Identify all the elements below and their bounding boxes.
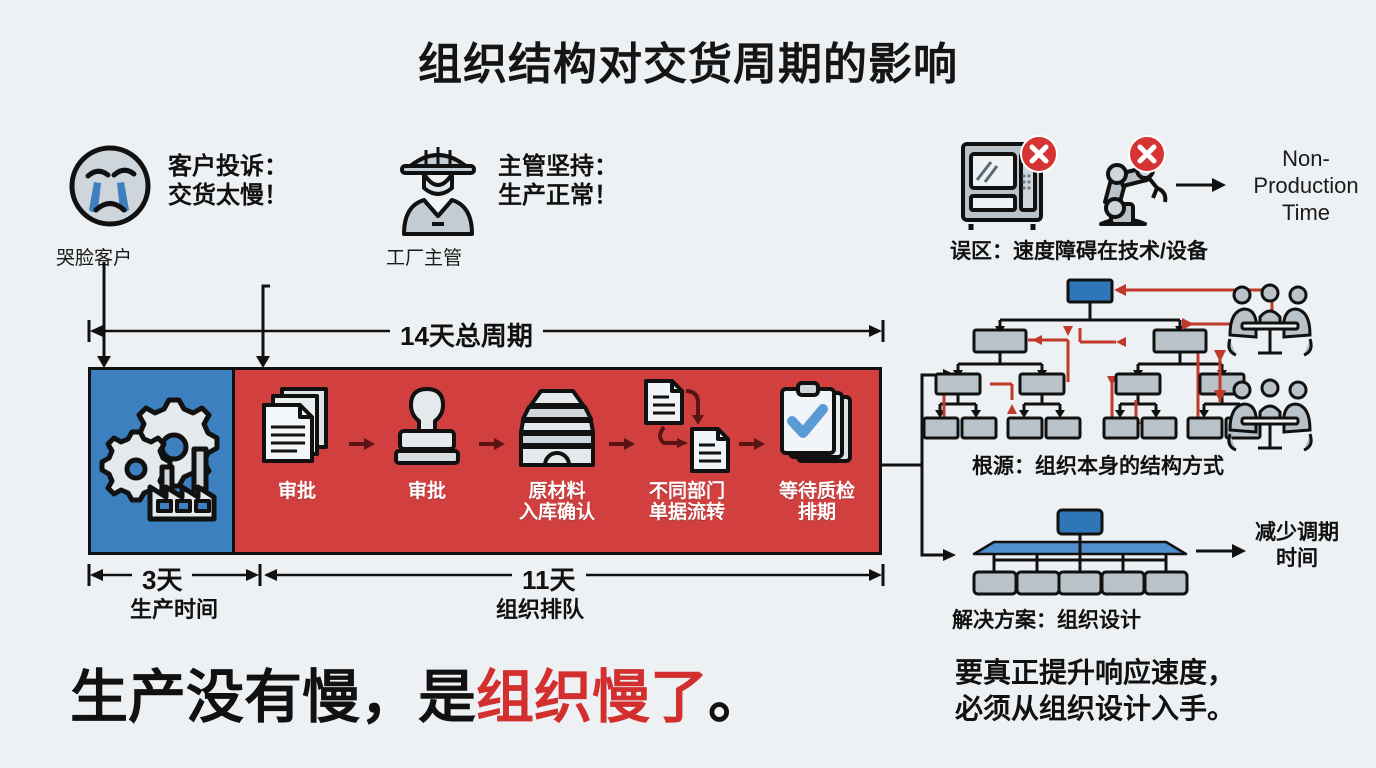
queue-step: 等待质检 排期 bbox=[765, 381, 869, 541]
rubber-stamp-icon bbox=[390, 381, 464, 477]
meeting-table-icon bbox=[1222, 378, 1318, 452]
step-arrow-icon bbox=[739, 436, 765, 452]
persona-connector-arrows bbox=[80, 262, 400, 372]
step-arrow-icon bbox=[479, 436, 505, 452]
queue-step: 审批 bbox=[375, 381, 479, 541]
persona-quote-customer: 客户投诉： 交货太慢！ bbox=[168, 152, 288, 211]
queue-step-label: 审批 bbox=[278, 481, 316, 502]
queue-step: 审批 bbox=[245, 381, 349, 541]
headline-right: 要真正提升响应速度， 必须从组织设计入手。 bbox=[955, 655, 1375, 727]
flat-org-chart bbox=[960, 508, 1200, 598]
infographic-canvas: 组织结构对交货周期的影响 客户投诉： 交货太慢！ 哭脸客户 主管坚持： 生产正常… bbox=[0, 0, 1376, 768]
documents-stack-icon bbox=[260, 381, 334, 477]
step-arrow-icon bbox=[609, 436, 635, 452]
meeting-table-icon bbox=[1222, 283, 1318, 357]
misconception-caption: 误区：速度障碍在技术/设备 bbox=[950, 235, 1208, 265]
queue-step-label: 原材料 入库确认 bbox=[519, 481, 595, 524]
queue-step: 不同部门 单据流转 bbox=[635, 381, 739, 541]
gears-factory-icon bbox=[92, 391, 232, 531]
production-sublabel: 生产时间 bbox=[88, 592, 260, 624]
document-routing-icon bbox=[642, 381, 732, 477]
red-x-badge bbox=[1126, 133, 1168, 175]
queue-step-label: 审批 bbox=[408, 481, 446, 502]
red-x-badge bbox=[1018, 133, 1060, 175]
inventory-stack-icon bbox=[515, 381, 599, 477]
timeline-segment-queue: 审批 审批 bbox=[235, 370, 879, 552]
reduce-cycle-time-label: 减少调期 时间 bbox=[1222, 520, 1372, 571]
total-cycle-label: 14天总周期 bbox=[390, 316, 543, 353]
root-cause-caption: 根源：组织本身的结构方式 bbox=[972, 450, 1224, 480]
factory-supervisor-icon bbox=[390, 138, 486, 238]
queue-step-label: 等待质检 排期 bbox=[779, 481, 855, 524]
headline-left: 生产没有慢，是组织慢了。 bbox=[70, 650, 900, 734]
persona-quote-supervisor: 主管坚持： 生产正常！ bbox=[498, 152, 618, 211]
timeline-bar: 审批 审批 bbox=[88, 367, 882, 555]
crying-face-icon bbox=[62, 140, 158, 236]
page-title: 组织结构对交货周期的影响 bbox=[0, 28, 1376, 92]
solution-caption: 解决方案：组织设计 bbox=[952, 604, 1141, 634]
misconception-arrow-icon bbox=[1176, 176, 1228, 194]
segment-measure-lines bbox=[88, 562, 884, 588]
headline-left-accent: 组织慢了 bbox=[476, 665, 708, 730]
queue-step: 原材料 入库确认 bbox=[505, 381, 609, 541]
queue-sublabel: 组织排队 bbox=[440, 592, 640, 624]
queue-step-label: 不同部门 单据流转 bbox=[649, 481, 725, 524]
headline-left-suffix: 。 bbox=[708, 665, 766, 730]
headline-left-prefix: 生产没有慢，是 bbox=[70, 665, 476, 730]
clipboard-check-icon bbox=[776, 381, 858, 477]
step-arrow-icon bbox=[349, 436, 375, 452]
timeline-segment-production bbox=[91, 370, 235, 552]
non-production-time-label: Non- Production Time bbox=[1236, 146, 1376, 226]
